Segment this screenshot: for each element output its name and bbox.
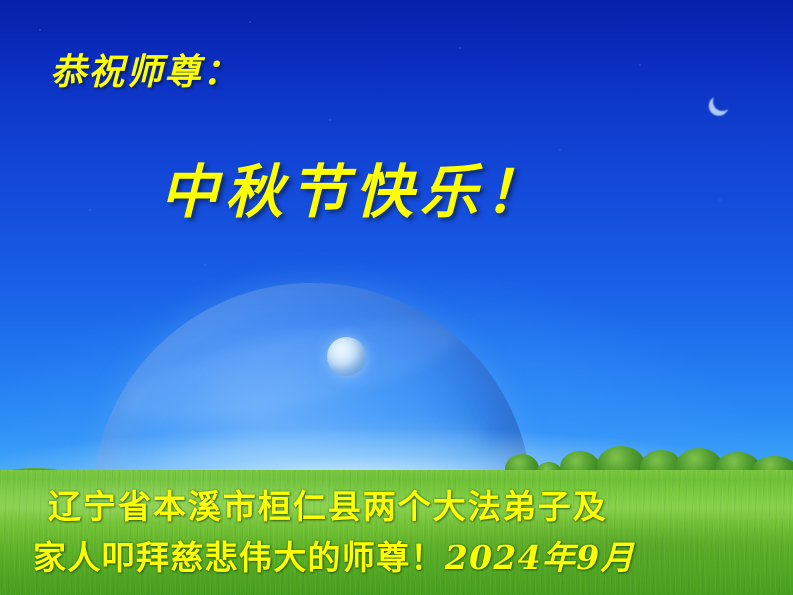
signature-date: 2024年9月 [445, 538, 635, 577]
main-wish-text: 中秋节快乐！ [160, 145, 550, 229]
signature-line-2: 家人叩拜慈悲伟大的师尊！2024年9月 [33, 531, 635, 579]
small-moon [327, 337, 366, 376]
greeting-line: 恭祝师尊： [50, 43, 241, 95]
greeting-card-image: 恭祝师尊： 中秋节快乐！ 辽宁省本溪市桓仁县两个大法弟子及 家人叩拜慈悲伟大的师… [0, 0, 793, 595]
signature-line-1: 辽宁省本溪市桓仁县两个大法弟子及 [48, 480, 608, 528]
signature-line-2-text: 家人叩拜慈悲伟大的师尊！ [33, 538, 445, 577]
